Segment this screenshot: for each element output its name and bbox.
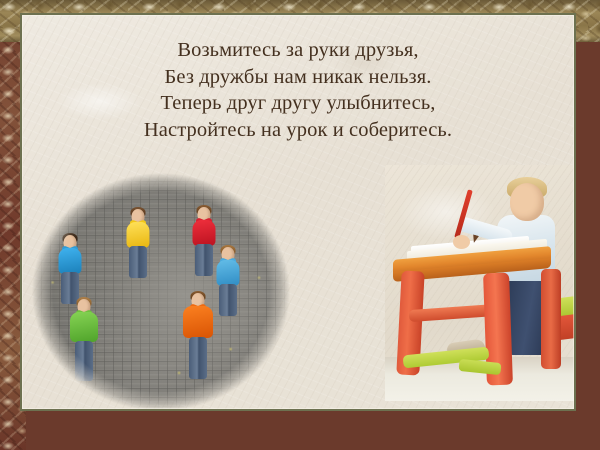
child-torso [183,306,213,338]
boy-hand [453,235,470,249]
child-legs [195,244,213,276]
child-torso [127,222,150,248]
slide-root: Возьмитесь за руки друзья, Без дружбы на… [0,0,600,450]
boy-head [510,183,544,221]
child-torso [70,312,98,342]
child-torso [193,220,216,246]
desk-leg-back-right [541,269,561,369]
child-torso [59,248,82,274]
verse-text-block: Возьмитесь за руки друзья, Без дружбы на… [22,37,574,143]
child-legs [189,337,207,379]
child-legs [129,246,147,278]
children-circle-photo [32,173,290,409]
verse-line-1: Возьмитесь за руки друзья, [22,37,574,64]
verse-line-4: Настройтесь на урок и соберитесь. [22,117,574,144]
slide-canvas: Возьмитесь за руки друзья, Без дружбы на… [22,15,574,409]
verse-line-2: Без дружбы нам никак нельзя. [22,64,574,91]
verse-line-3: Теперь друг другу улыбнитесь, [22,90,574,117]
child-torso [217,260,240,286]
child-legs [75,341,93,381]
boy-at-desk-photo [385,165,574,401]
child-legs [219,284,237,316]
